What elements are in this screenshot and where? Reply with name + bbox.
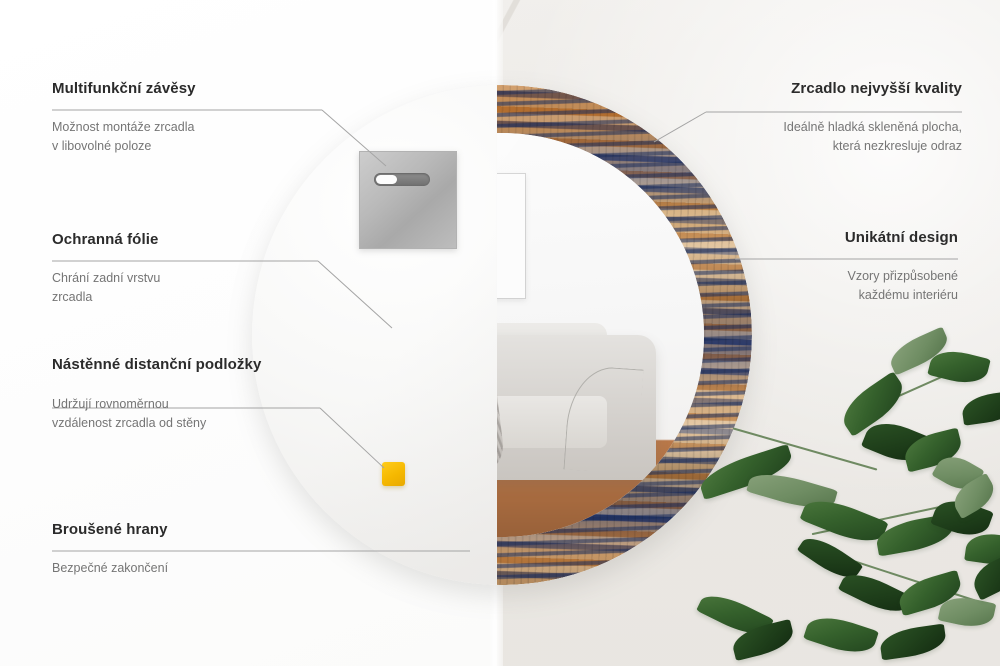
callout-nastenne-distancni-podlozky: Nástěnné distanční podložky Udržují rovn… <box>52 356 320 432</box>
callout-desc-line-2: v libovolné poloze <box>52 137 320 156</box>
callout-title: Broušené hrany <box>52 521 320 540</box>
callout-ochranna-folie: Ochranná fólie Chrání zadní vrstvu zrcad… <box>52 231 320 306</box>
callout-multifunkcni-zavesy: Multifunkční závěsy Možnost montáže zrca… <box>52 80 320 155</box>
callout-desc-line-2: která nezkresluje odraz <box>694 137 962 156</box>
callout-desc-line-1: Udržují rovnoměrnou <box>52 395 320 414</box>
callout-desc-line-2: vzdálenost zrcadla od stěny <box>52 414 320 433</box>
callout-desc-line-2: zrcadla <box>52 288 320 307</box>
leaf <box>803 610 879 660</box>
round-mirror <box>252 85 752 585</box>
callout-desc-line-2: každému interiéru <box>690 286 958 305</box>
leaf <box>878 624 947 661</box>
spacer-pad <box>382 462 405 486</box>
leaf <box>960 390 1000 426</box>
callout-title: Ochranná fólie <box>52 231 320 250</box>
callout-title: Multifunkční závěsy <box>52 80 320 99</box>
callout-desc-line-1: Bezpečné zakončení <box>52 559 320 578</box>
callout-title: Unikátní design <box>690 229 958 248</box>
callout-title: Zrcadlo nejvyšší kvality <box>694 80 962 99</box>
infographic-canvas: Multifunkční závěsy Možnost montáže zrca… <box>0 0 1000 666</box>
callout-desc-line-1: Vzory přizpůsobené <box>690 267 958 286</box>
callout-desc-line-1: Možnost montáže zrcadla <box>52 118 320 137</box>
callout-desc-line-1: Ideálně hladká skleněná plocha, <box>694 118 962 137</box>
mirror-disc <box>252 85 752 585</box>
callout-title: Nástěnné distanční podložky <box>52 356 262 375</box>
foliage-cluster <box>690 330 1000 666</box>
callout-unikatni-design: Unikátní design Vzory přizpůsobené každé… <box>690 229 958 304</box>
hanger-plate <box>359 151 457 249</box>
callout-zrcadlo-nejvyssi-kvality: Zrcadlo nejvyšší kvality Ideálně hladká … <box>694 80 962 155</box>
callout-desc-line-1: Chrání zadní vrstvu <box>52 269 320 288</box>
callout-brousene-hrany: Broušené hrany Bezpečné zakončení <box>52 521 320 578</box>
hanger-keyhole-slot <box>374 173 430 186</box>
